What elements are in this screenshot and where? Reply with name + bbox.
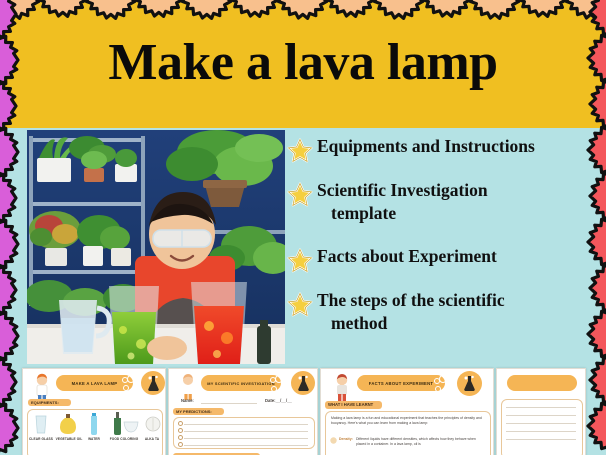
worksheet-section-label: WHAT I HAVE LEARNT	[328, 402, 373, 407]
worksheet-section-label: EQUIPMENTS:	[31, 400, 59, 405]
scientist-kid-icon	[178, 373, 198, 401]
flask-icon	[147, 375, 160, 391]
feature-list: Equipments and Instructions Scientific I…	[285, 132, 603, 364]
name-field-line[interactable]	[201, 403, 257, 404]
star-icon	[287, 138, 313, 164]
worksheet-section-header: MY PREDICTIONS:	[173, 408, 224, 415]
prediction-line[interactable]	[184, 424, 308, 425]
prediction-line[interactable]	[184, 431, 308, 432]
prediction-line[interactable]	[184, 445, 308, 446]
flask-icon	[463, 375, 476, 391]
list-item-label: Scientific Investigation template	[317, 179, 603, 225]
facts-body-text: Different liquids have different densiti…	[356, 437, 484, 447]
bullet-dot	[178, 421, 183, 426]
worksheet-preview-investigation[interactable]: MY SCIENTIFIC INVESTIGATION Name: Date:_…	[168, 368, 318, 455]
worksheet-preview-facts[interactable]: FACTS ABOUT EXPERIMENT WHAT I HAVE LEARN…	[320, 368, 494, 455]
worksheet-section-header: WHAT I HAVE LEARNT	[325, 401, 382, 409]
worksheet-title-banner: MAKE A LAVA LAMP	[56, 375, 133, 391]
worksheet-title-banner: FACTS ABOUT EXPERIMENT	[357, 375, 445, 391]
poster-canvas: Make a lava lamp	[0, 0, 606, 455]
worksheet-title: MAKE A LAVA LAMP	[72, 381, 118, 386]
photo-illustration	[27, 130, 285, 364]
bubble-icon	[439, 375, 447, 383]
worksheet-previews: MAKE A LAVA LAMP EQUIPMENTS: CLEAR GLASS	[22, 368, 584, 455]
hero-photo	[27, 130, 285, 364]
extra-line[interactable]	[506, 423, 576, 424]
worksheet-title: FACTS ABOUT EXPERIMENT	[369, 381, 434, 386]
star-icon	[287, 182, 313, 208]
star-icon	[287, 248, 313, 274]
bullet-dot	[178, 442, 183, 447]
equipment-label: FOOD COLORING	[107, 437, 141, 441]
worksheet-title-banner: MY SCIENTIFIC INVESTIGATION	[201, 375, 281, 391]
clear-glass-icon	[33, 414, 49, 434]
worksheet-title-banner	[507, 375, 577, 391]
star-icon	[287, 292, 313, 318]
vegetable-oil-icon	[59, 414, 77, 434]
extra-line[interactable]	[506, 431, 576, 432]
alka-seltzer-icon	[145, 415, 161, 433]
scientist-kid-icon	[331, 373, 353, 403]
equipment-label: ALKA TA	[139, 437, 165, 441]
date-field-label: Date:__/__/__	[265, 398, 292, 403]
flask-icon	[297, 375, 310, 391]
extra-line[interactable]	[506, 407, 576, 408]
bowl-icon	[123, 419, 139, 433]
extra-line[interactable]	[506, 439, 576, 440]
equipment-label: WATER	[81, 437, 107, 441]
bullet-dot	[178, 435, 183, 440]
name-field-label: Name:	[181, 398, 194, 403]
water-bottle-icon	[88, 413, 100, 435]
list-item-label: The steps of the scientific method	[317, 289, 603, 335]
bubble-icon	[271, 386, 277, 392]
worksheet-section-label: MY PREDICTIONS:	[176, 409, 212, 414]
worksheet-section-header: EQUIPMENTS:	[28, 399, 71, 406]
facts-intro-text: Making a lava lamp is a fun and educatio…	[331, 416, 483, 426]
facts-term: Density:	[339, 437, 353, 441]
worksheet-preview-equipments[interactable]: MAKE A LAVA LAMP EQUIPMENTS: CLEAR GLASS	[22, 368, 166, 455]
list-item-label: Equipments and Instructions	[317, 135, 603, 158]
bubble-icon	[435, 386, 441, 392]
bubble-icon	[275, 375, 283, 383]
list-item-label: Facts about Experiment	[317, 245, 603, 268]
prediction-line[interactable]	[184, 438, 308, 439]
bullet-dot	[178, 428, 183, 433]
bubble-icon	[127, 375, 135, 383]
worksheet-preview-extra[interactable]	[496, 368, 586, 455]
page-title: Make a lava lamp	[0, 34, 606, 92]
worksheet-title: MY SCIENTIFIC INVESTIGATION	[207, 381, 275, 386]
bubble-icon	[123, 385, 129, 391]
density-bullet-icon	[330, 437, 337, 444]
extra-line[interactable]	[506, 415, 576, 416]
